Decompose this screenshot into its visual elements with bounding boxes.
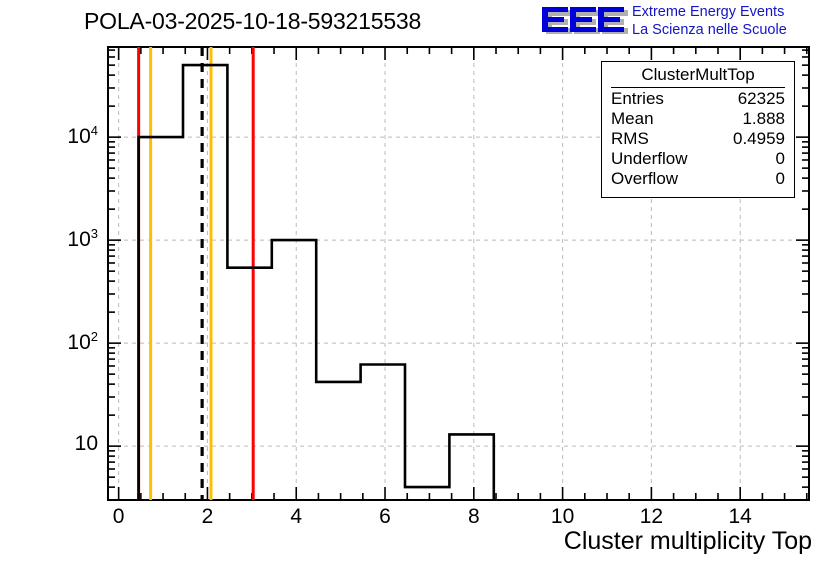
stats-row-label: RMS — [611, 129, 649, 148]
x-tick-label: 0 — [89, 505, 149, 529]
y-tick-label: 102 — [26, 329, 98, 355]
stats-box-title: ClusterMultTop — [611, 62, 785, 88]
x-tick-label: 10 — [533, 505, 593, 529]
stats-row: Mean1.888 — [602, 108, 794, 128]
x-tick-label: 8 — [444, 505, 504, 529]
stats-row: RMS0.4959 — [602, 128, 794, 148]
x-tick-label: 4 — [266, 505, 326, 529]
y-tick-label: 10 — [26, 432, 98, 456]
y-tick-label: 103 — [26, 226, 98, 252]
stats-row-label: Overflow — [611, 169, 678, 188]
stats-row-value: 62325 — [738, 89, 785, 108]
x-tick-label: 6 — [355, 505, 415, 529]
stats-row-label: Entries — [611, 89, 664, 108]
stats-row-value: 0.4959 — [733, 129, 785, 148]
x-axis-title: Cluster multiplicity Top — [564, 527, 812, 556]
stats-row-value: 0 — [776, 149, 785, 168]
stats-box: ClusterMultTop Entries62325Mean1.888RMS0… — [601, 61, 795, 198]
stats-row-label: Underflow — [611, 149, 688, 168]
stats-row-label: Mean — [611, 109, 654, 128]
stats-row-value: 0 — [776, 169, 785, 188]
stats-row: Entries62325 — [602, 88, 794, 108]
x-tick-label: 2 — [177, 505, 237, 529]
histogram-outline — [139, 65, 494, 500]
plot-canvas: POLA-03-2025-10-18-593215538 Extreme Ene… — [0, 0, 836, 572]
stats-row: Underflow0 — [602, 148, 794, 168]
x-tick-label: 12 — [621, 505, 681, 529]
x-tick-label: 14 — [710, 505, 770, 529]
stats-row-value: 1.888 — [742, 109, 785, 128]
y-tick-label: 104 — [26, 123, 98, 149]
stats-row: Overflow0 — [602, 168, 794, 188]
